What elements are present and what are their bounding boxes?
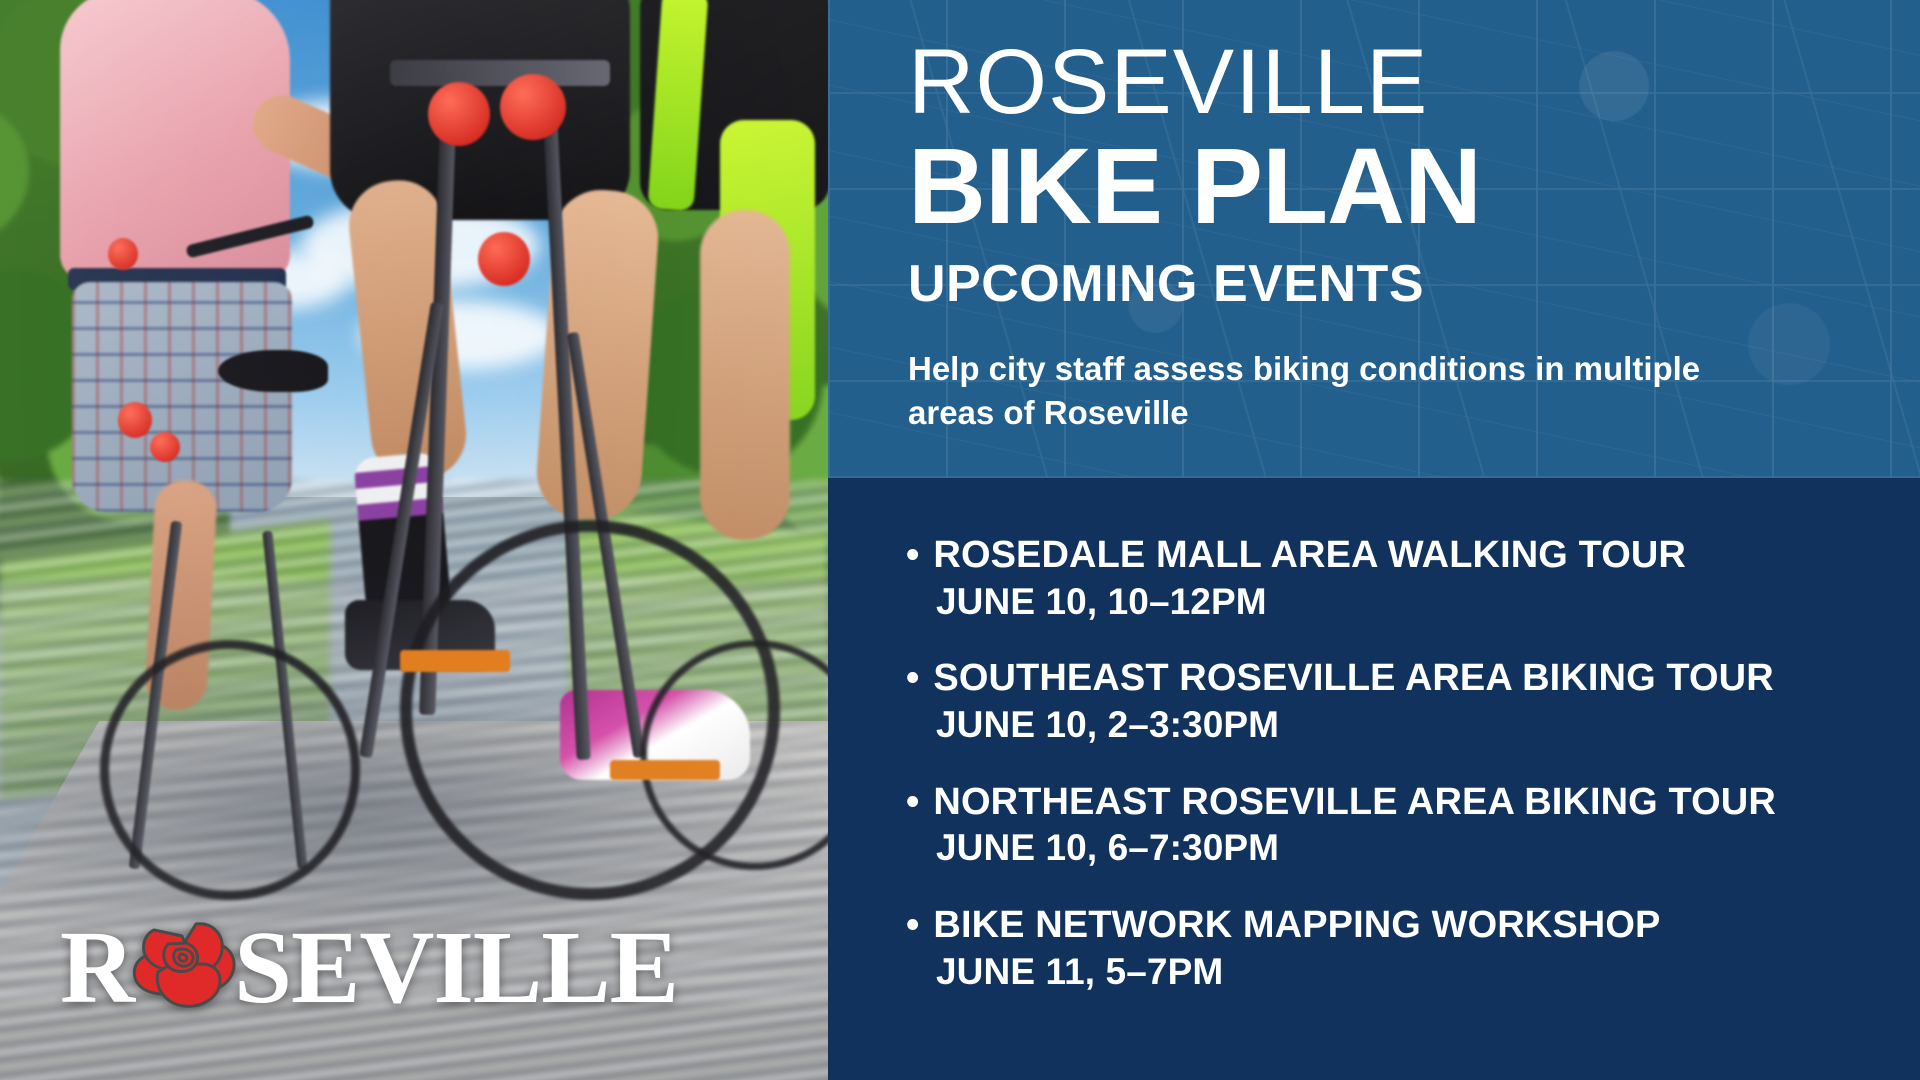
red-reflector-icon — [118, 402, 152, 438]
rider-right-leg — [700, 210, 790, 540]
page-subtitle: UPCOMING EVENTS — [908, 256, 1920, 313]
bike-seat — [218, 350, 328, 392]
list-item: • BIKE NETWORK MAPPING WORKSHOP JUNE 11,… — [910, 904, 1880, 993]
event-date: JUNE 10, 10–12PM — [936, 581, 1880, 624]
bullet-icon: • — [906, 657, 919, 700]
roseville-logo: R SEVILLE — [60, 916, 678, 1020]
logo-letter-r: R — [60, 916, 134, 1020]
list-item: • NORTHEAST ROSEVILLE AREA BIKING TOUR J… — [910, 781, 1880, 870]
event-title: NORTHEAST ROSEVILLE AREA BIKING TOUR — [933, 781, 1775, 824]
red-reflector-icon — [478, 232, 530, 286]
event-date: JUNE 10, 2–3:30PM — [936, 704, 1880, 747]
events-list: • ROSEDALE MALL AREA WALKING TOUR JUNE 1… — [828, 478, 1920, 1080]
page-description: Help city staff assess biking conditions… — [908, 347, 1738, 435]
list-item: • ROSEDALE MALL AREA WALKING TOUR JUNE 1… — [910, 534, 1880, 623]
bike-pedal — [610, 760, 720, 780]
page-title-line-2: BIKE PLAN — [908, 132, 1920, 240]
event-date: JUNE 11, 5–7PM — [936, 951, 1880, 994]
panel-header: ROSEVILLE BIKE PLAN UPCOMING EVENTS Help… — [828, 0, 1920, 478]
event-title-row: • BIKE NETWORK MAPPING WORKSHOP — [910, 904, 1880, 947]
cyclists-on-trail-photo: R SEVILLE — [0, 0, 828, 1080]
event-title-row: • SOUTHEAST ROSEVILLE AREA BIKING TOUR — [910, 657, 1880, 700]
bike-pedal — [400, 650, 510, 672]
event-title: ROSEDALE MALL AREA WALKING TOUR — [933, 534, 1686, 577]
bike-plan-poster: R SEVILLE — [0, 0, 1920, 1080]
event-title-row: • ROSEDALE MALL AREA WALKING TOUR — [910, 534, 1880, 577]
event-title: BIKE NETWORK MAPPING WORKSHOP — [933, 904, 1660, 947]
page-title-line-1: ROSEVILLE — [908, 36, 1920, 130]
list-item: • SOUTHEAST ROSEVILLE AREA BIKING TOUR J… — [910, 657, 1880, 746]
event-date: JUNE 10, 6–7:30PM — [936, 827, 1880, 870]
red-reflector-icon — [500, 74, 566, 140]
rider-plaid-shorts — [72, 282, 292, 512]
bullet-icon: • — [906, 534, 919, 577]
bullet-icon: • — [906, 781, 919, 824]
red-reflector-icon — [150, 432, 180, 462]
bike-rack — [390, 60, 610, 86]
bullet-icon: • — [906, 904, 919, 947]
bike-wheel — [100, 640, 360, 900]
red-reflector-icon — [428, 82, 490, 146]
event-title-row: • NORTHEAST ROSEVILLE AREA BIKING TOUR — [910, 781, 1880, 824]
logo-text-seville: SEVILLE — [234, 916, 678, 1020]
event-title: SOUTHEAST ROSEVILLE AREA BIKING TOUR — [933, 657, 1773, 700]
info-panel: ROSEVILLE BIKE PLAN UPCOMING EVENTS Help… — [828, 0, 1920, 1080]
red-reflector-icon — [108, 238, 138, 270]
rose-icon — [124, 910, 240, 1014]
